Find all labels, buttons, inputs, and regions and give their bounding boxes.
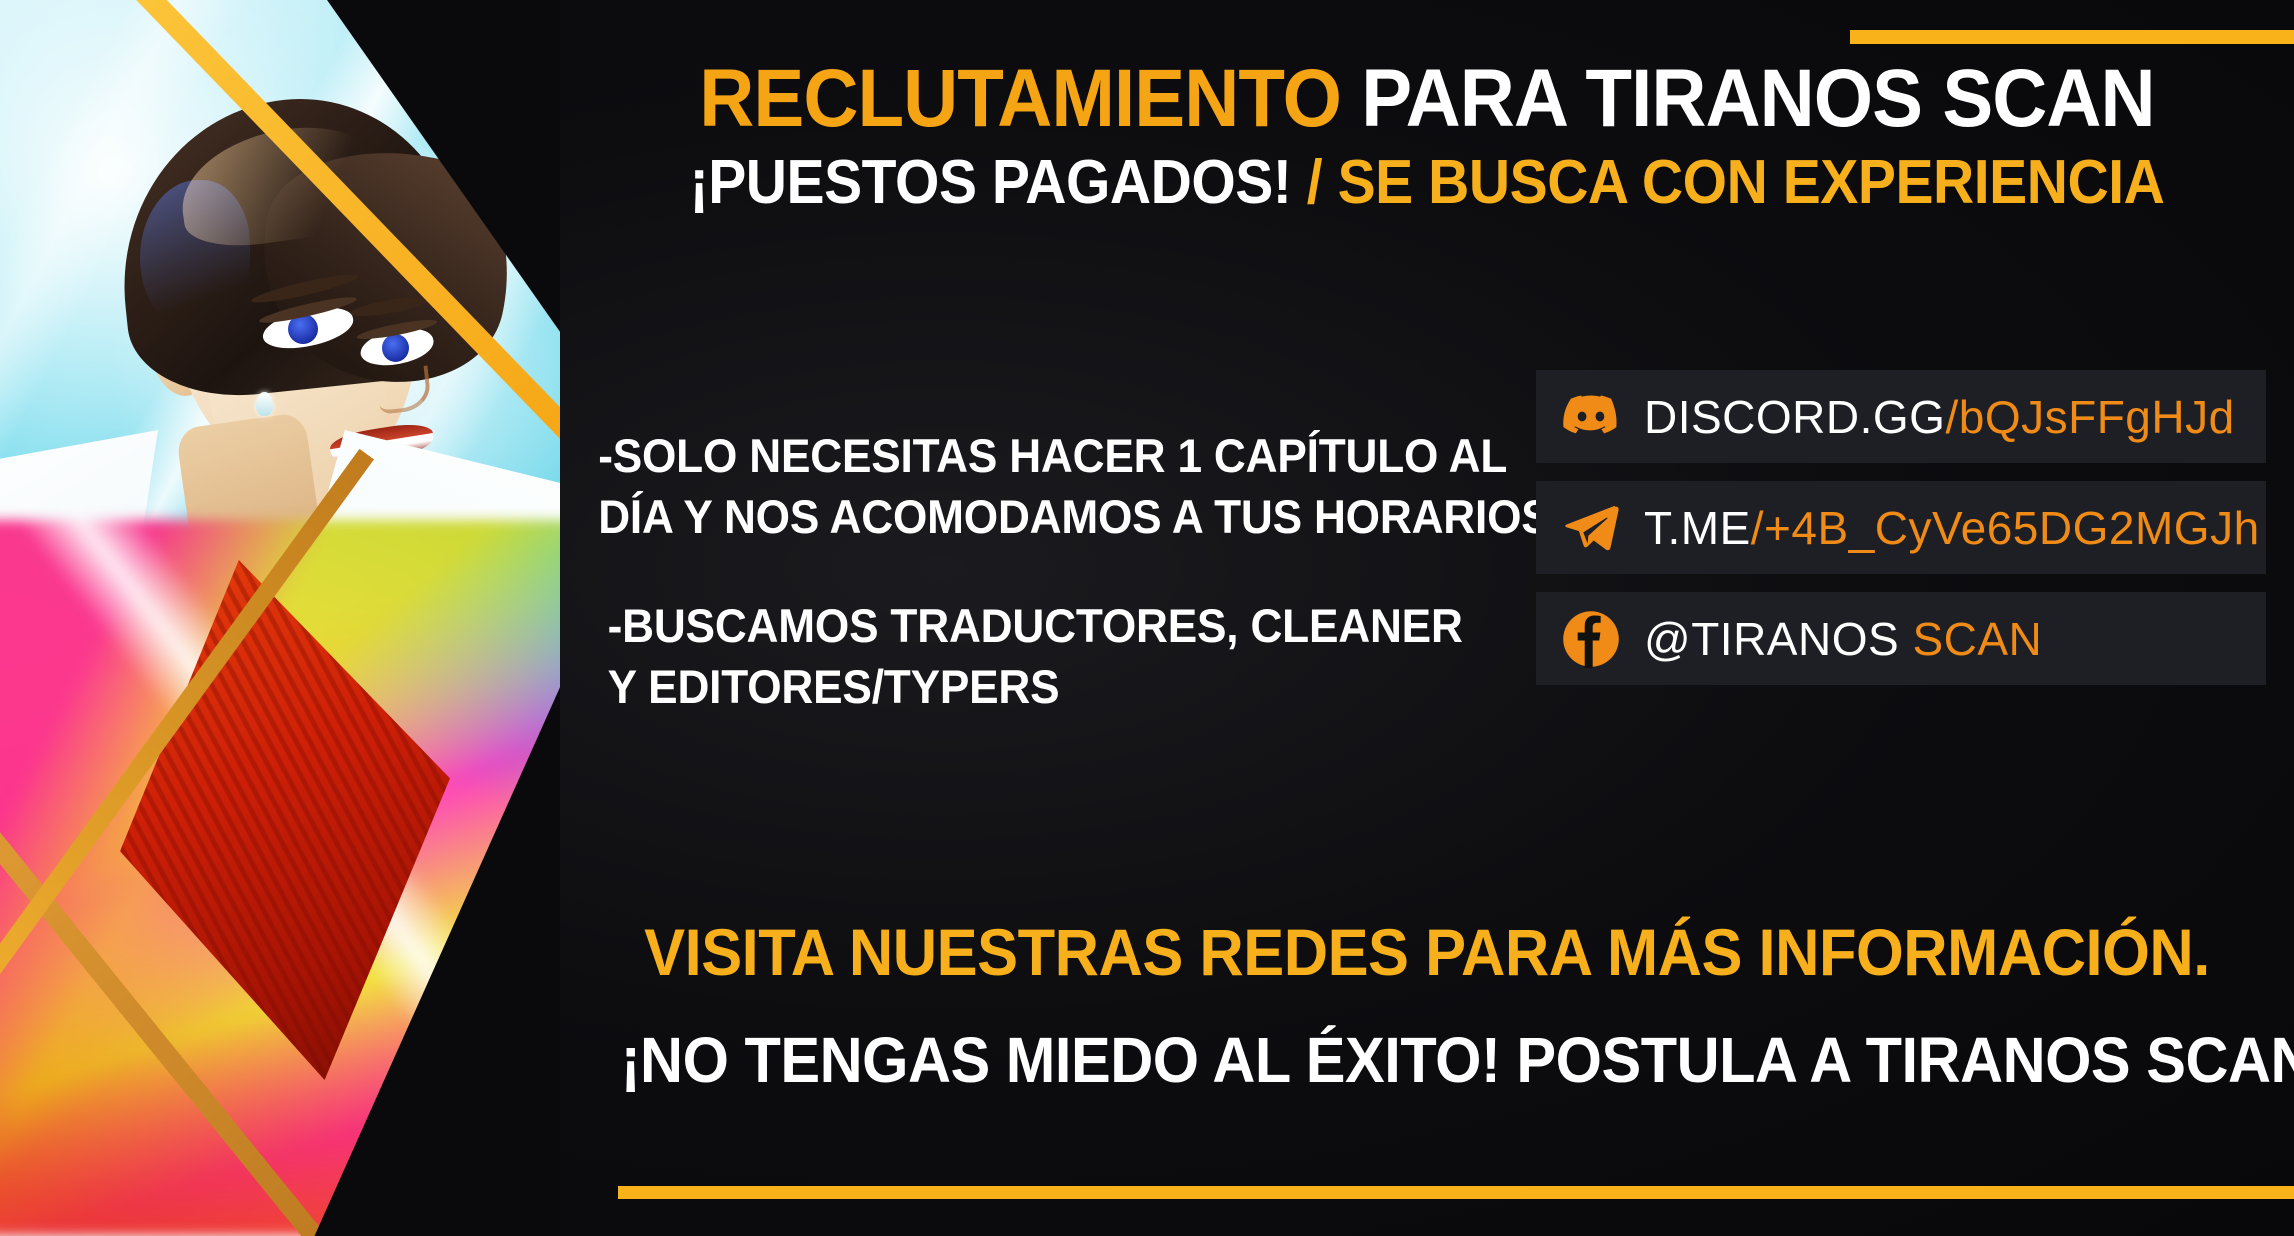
telegram-icon bbox=[1562, 499, 1620, 557]
gold-rule-top bbox=[1850, 30, 2294, 44]
call-to-action: VISITA NUESTRAS REDES PARA MÁS INFORMACI… bbox=[621, 918, 2234, 1094]
contact-row-discord[interactable]: DISCORD.GG/bQJsFFgHJd bbox=[1536, 370, 2266, 463]
telegram-domain: T.ME bbox=[1644, 502, 1751, 554]
subhead-gold-part: / SE BUSCA CON EXPERIENCIA bbox=[1307, 148, 2165, 217]
contact-row-telegram[interactable]: T.ME/+4B_CyVe65DG2MGJh bbox=[1536, 481, 2266, 574]
requirements-list: -SOLO NECESITAS HACER 1 CAPÍTULO AL DÍA … bbox=[598, 425, 1482, 717]
contact-label-facebook: @TIRANOS SCAN bbox=[1644, 612, 2042, 666]
artwork-panel bbox=[0, 0, 640, 1236]
facebook-handle: @TIRANOS bbox=[1644, 613, 1899, 665]
telegram-invite-code: /+4B_CyVe65DG2MGJh bbox=[1751, 502, 2260, 554]
cta-line-2: ¡NO TENGAS MIEDO AL ÉXITO! POSTULA A TIR… bbox=[621, 1027, 2234, 1094]
discord-domain: DISCORD.GG bbox=[1644, 391, 1945, 443]
contact-label-telegram: T.ME/+4B_CyVe65DG2MGJh bbox=[1644, 501, 2260, 555]
bullet-line: Y EDITORES/TYPERS bbox=[608, 656, 1482, 717]
subhead-white-part: ¡PUESTOS PAGADOS! bbox=[690, 148, 1292, 217]
bullet-item-roles: -BUSCAMOS TRADUCTORES, CLEANER Y EDITORE… bbox=[598, 595, 1482, 717]
content-panel: RECLUTAMIENTO PARA TIRANOS SCAN ¡PUESTOS… bbox=[560, 0, 2294, 1236]
page-title: RECLUTAMIENTO PARA TIRANOS SCAN bbox=[621, 58, 2234, 140]
gold-rule-bottom bbox=[618, 1186, 2294, 1199]
bullet-item-schedule: -SOLO NECESITAS HACER 1 CAPÍTULO AL DÍA … bbox=[598, 425, 1482, 547]
bullet-line: -SOLO NECESITAS HACER 1 CAPÍTULO AL bbox=[598, 425, 1482, 486]
cta-line-1: VISITA NUESTRAS REDES PARA MÁS INFORMACI… bbox=[621, 918, 2234, 987]
headline-white-part: PARA TIRANOS SCAN bbox=[1361, 53, 2154, 144]
character-iris-right bbox=[382, 334, 409, 362]
recruitment-banner: RECLUTAMIENTO PARA TIRANOS SCAN ¡PUESTOS… bbox=[0, 0, 2294, 1236]
contact-links: DISCORD.GG/bQJsFFgHJd T.ME/+4B_CyVe65DG2… bbox=[1536, 370, 2266, 685]
contact-label-discord: DISCORD.GG/bQJsFFgHJd bbox=[1644, 390, 2235, 444]
discord-icon bbox=[1562, 388, 1620, 446]
bullet-line: DÍA Y NOS ACOMODAMOS A TUS HORARIOS bbox=[598, 486, 1482, 547]
contact-row-facebook[interactable]: @TIRANOS SCAN bbox=[1536, 592, 2266, 685]
page-subtitle: ¡PUESTOS PAGADOS! / SE BUSCA CON EXPERIE… bbox=[629, 152, 2224, 214]
headline-gold-part: RECLUTAMIENTO bbox=[699, 53, 1341, 144]
facebook-handle-suffix: SCAN bbox=[1912, 613, 2042, 665]
discord-invite-code: /bQJsFFgHJd bbox=[1945, 391, 2234, 443]
facebook-icon bbox=[1562, 610, 1620, 668]
character-sweat-drop bbox=[256, 392, 273, 416]
bullet-line: -BUSCAMOS TRADUCTORES, CLEANER bbox=[608, 595, 1482, 656]
